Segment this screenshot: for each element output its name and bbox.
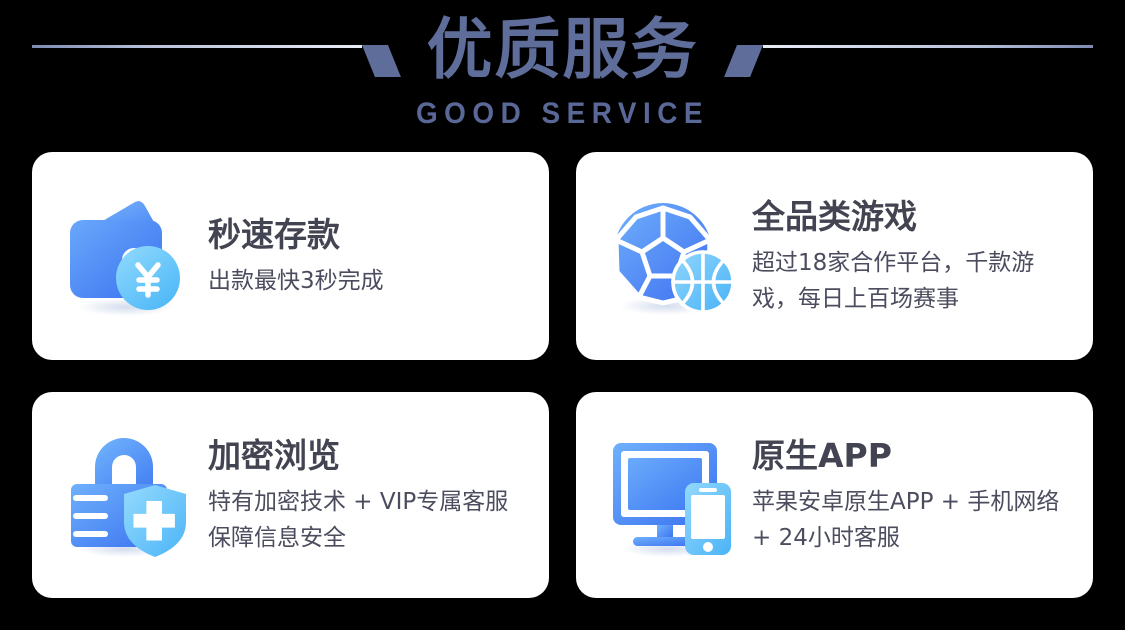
feature-card-games[interactable]: 全品类游戏 超过18家合作平台，千款游戏，每日上百场赛事 [576,152,1093,360]
page-subtitle: GOOD SERVICE [39,96,1085,132]
wallet-yen-icon [62,190,194,322]
feature-card-encryption[interactable]: 加密浏览 特有加密技术 + VIP专属客服保障信息安全 [32,392,549,598]
page-header: 优质服务 GOOD SERVICE [0,0,1125,148]
monitor-phone-icon [606,429,738,561]
card-description: 超过18家合作平台，千款游戏，每日上百场赛事 [752,245,1071,317]
card-title: 秒速存款 [208,213,527,257]
card-description: 苹果安卓原生APP + 手机网络 + 24小时客服 [752,484,1071,556]
card-description: 特有加密技术 + VIP专属客服保障信息安全 [208,484,527,556]
page-title: 优质服务 [0,4,1125,96]
card-description: 出款最快3秒完成 [208,263,527,299]
card-text-block: 加密浏览 特有加密技术 + VIP专属客服保障信息安全 [208,434,527,556]
card-text-block: 全品类游戏 超过18家合作平台，千款游戏，每日上百场赛事 [752,195,1071,317]
card-title: 全品类游戏 [752,195,1071,239]
card-text-block: 原生APP 苹果安卓原生APP + 手机网络 + 24小时客服 [752,434,1071,556]
card-title: 加密浏览 [208,434,527,478]
lock-shield-icon [62,429,194,561]
feature-card-deposit[interactable]: 秒速存款 出款最快3秒完成 [32,152,549,360]
feature-card-grid: 秒速存款 出款最快3秒完成 [32,152,1093,598]
card-title: 原生APP [752,434,1071,478]
soccer-basketball-icon [606,190,738,322]
card-text-block: 秒速存款 出款最快3秒完成 [208,213,527,299]
feature-card-native-app[interactable]: 原生APP 苹果安卓原生APP + 手机网络 + 24小时客服 [576,392,1093,598]
